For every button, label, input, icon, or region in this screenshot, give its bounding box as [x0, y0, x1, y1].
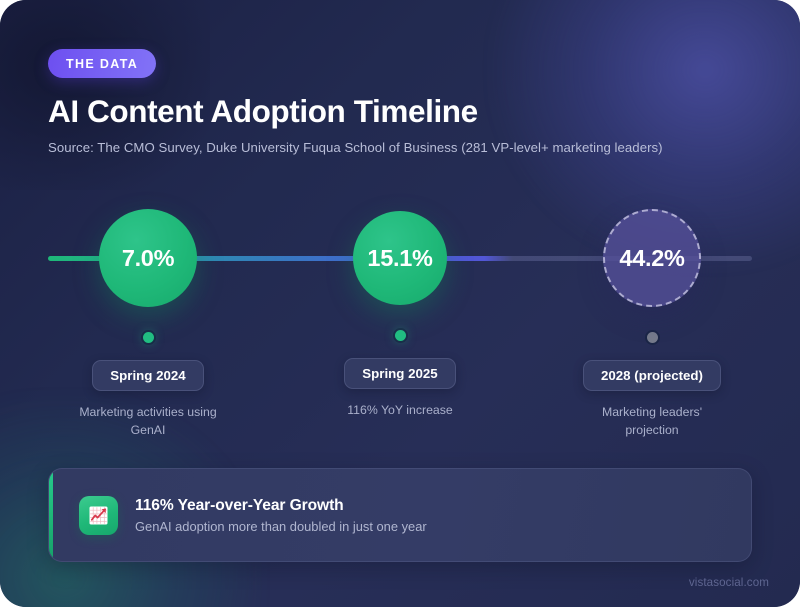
node-caption: 116% YoY increase: [325, 402, 475, 420]
chart-increasing-icon: [79, 496, 118, 535]
green-dot-icon: [395, 330, 406, 341]
eyebrow-badge: THE DATA: [48, 49, 156, 78]
timeline-node-spring-2025: 15.1% Spring 2025 116% YoY increase: [325, 186, 475, 420]
infographic-card: THE DATA AI Content Adoption Timeline So…: [0, 0, 800, 607]
card-content: THE DATA AI Content Adoption Timeline So…: [0, 0, 800, 607]
footer-attribution: vistasocial.com: [689, 576, 769, 589]
green-dot-icon: [143, 332, 154, 343]
value-label: 44.2%: [619, 245, 684, 272]
timeline-node-2028-projected: 44.2% 2028 (projected) Marketing leaders…: [577, 186, 727, 440]
value-bubble-projected: 44.2%: [603, 209, 701, 307]
value-bubble: 7.0%: [99, 209, 197, 307]
date-chip-label: Spring 2025: [362, 366, 437, 381]
callout-subtext: GenAI adoption more than doubled in just…: [135, 519, 427, 534]
growth-callout: 116% Year-over-Year Growth GenAI adoptio…: [48, 468, 752, 562]
gray-dot-icon: [647, 332, 658, 343]
timeline-node-spring-2024: 7.0% Spring 2024 Marketing activities us…: [73, 186, 223, 440]
value-label: 7.0%: [122, 245, 174, 272]
source-subtitle: Source: The CMO Survey, Duke University …: [48, 140, 663, 155]
node-caption: Marketing activities using GenAI: [73, 404, 223, 440]
value-bubble: 15.1%: [353, 211, 447, 305]
date-chip: 2028 (projected): [583, 360, 721, 391]
timeline-chart: 7.0% Spring 2024 Marketing activities us…: [0, 186, 800, 426]
date-chip-label: Spring 2024: [110, 368, 185, 383]
page-title: AI Content Adoption Timeline: [48, 93, 478, 130]
callout-accent-bar: [49, 469, 53, 561]
date-chip: Spring 2024: [92, 360, 203, 391]
node-caption: Marketing leaders' projection: [577, 404, 727, 440]
date-chip: Spring 2025: [344, 358, 455, 389]
eyebrow-badge-label: THE DATA: [66, 57, 138, 71]
callout-heading: 116% Year-over-Year Growth: [135, 497, 427, 515]
value-label: 15.1%: [367, 245, 432, 272]
callout-text-group: 116% Year-over-Year Growth GenAI adoptio…: [135, 497, 427, 534]
date-chip-label: 2028 (projected): [601, 368, 703, 383]
